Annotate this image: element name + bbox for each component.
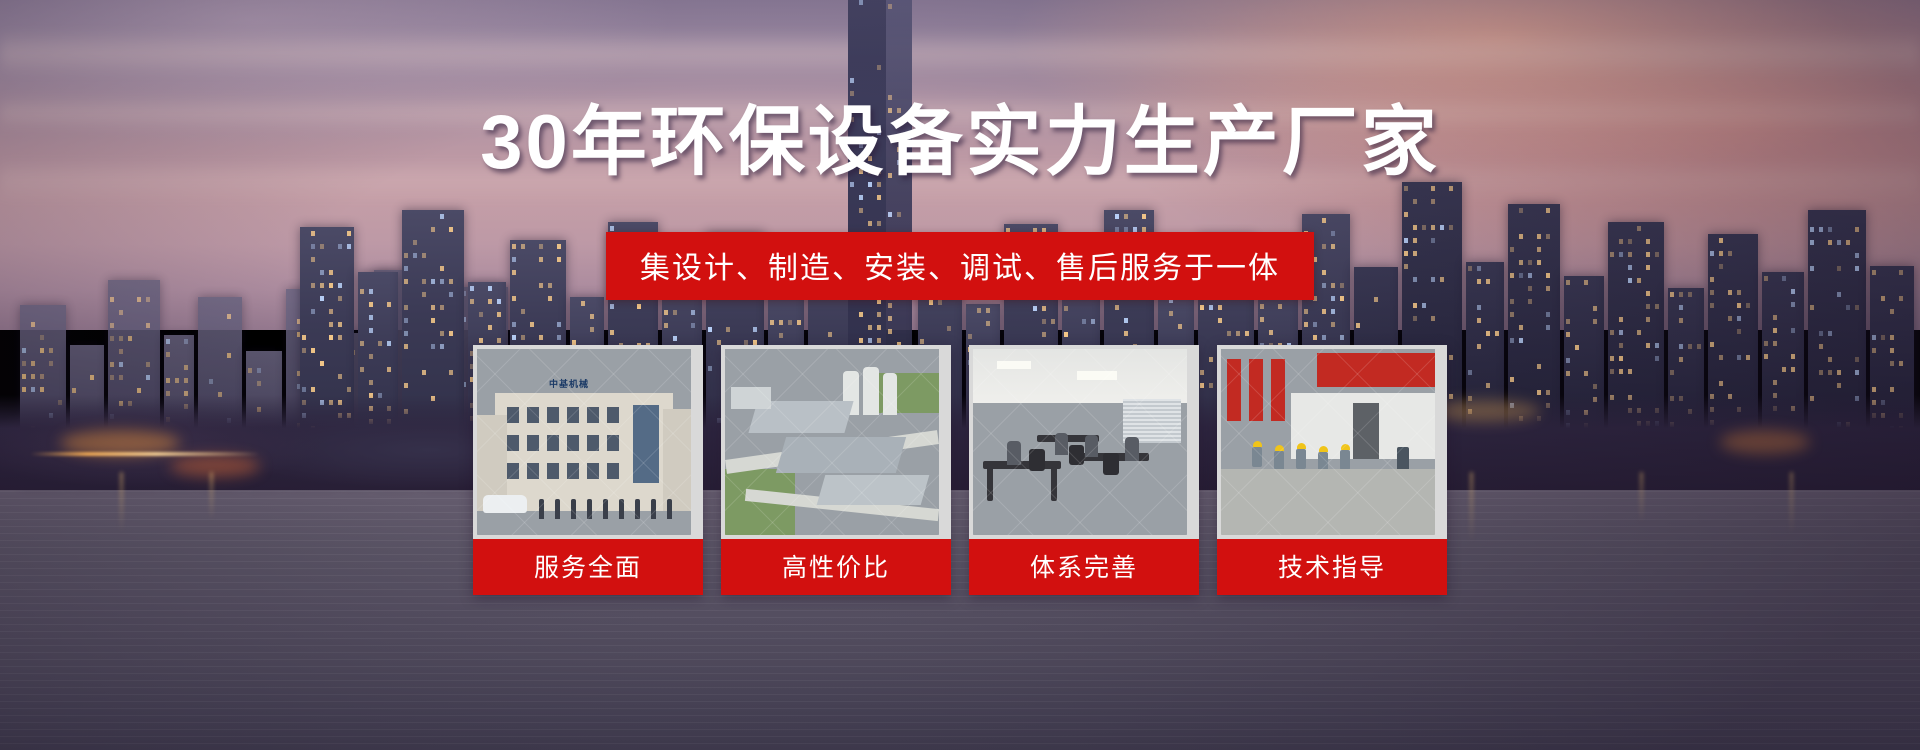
card-photo-office-building: 中基机械: [477, 349, 691, 535]
feature-card[interactable]: 体系完善: [969, 345, 1199, 595]
feature-card[interactable]: 技术指导: [1217, 345, 1447, 595]
card-photo-office-interior: [973, 349, 1187, 535]
card-caption: 技术指导: [1217, 539, 1447, 595]
card-photo-aerial-plant: [725, 349, 939, 535]
hero-banner: 30年环保设备实力生产厂家 集设计、制造、安装、调试、售后服务于一体 中基机械: [0, 0, 1920, 750]
feature-card-list: 中基机械: [473, 345, 1447, 595]
photo-watermark: [477, 349, 691, 535]
photo-watermark: [973, 349, 1187, 535]
feature-card[interactable]: 高性价比: [721, 345, 951, 595]
banner-headline: 30年环保设备实力生产厂家: [0, 105, 1920, 181]
photo-watermark: [725, 349, 939, 535]
feature-card[interactable]: 中基机械: [473, 345, 703, 595]
card-caption: 高性价比: [721, 539, 951, 595]
banner-subtitle-bar: 集设计、制造、安装、调试、售后服务于一体: [606, 232, 1314, 300]
card-caption: 服务全面: [473, 539, 703, 595]
card-photo-workshop: [1221, 349, 1435, 535]
card-caption: 体系完善: [969, 539, 1199, 595]
photo-watermark: [1221, 349, 1435, 535]
